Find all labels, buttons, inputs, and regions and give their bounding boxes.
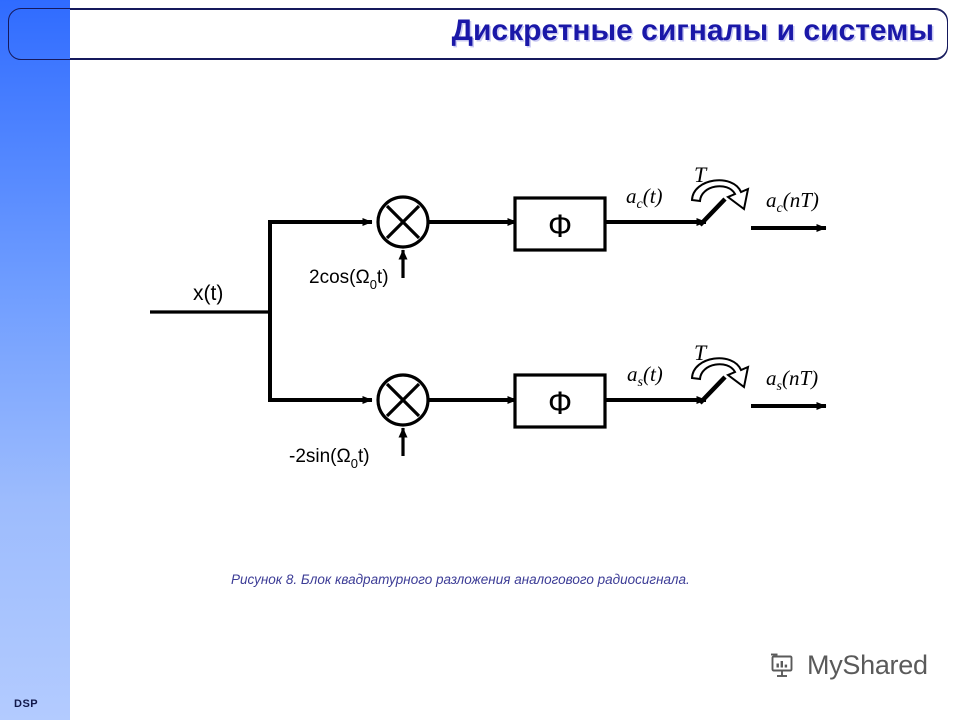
branch-splitter	[268, 222, 372, 400]
oscillator-label-sine: -2sin(Ω0t)	[289, 446, 370, 471]
input-signal-path: x(t)	[150, 282, 271, 312]
input-label: x(t)	[193, 282, 223, 305]
cosine-branch-group: 2cos(Ω0t) Ф ac(t) T ac(nT)	[309, 162, 826, 292]
quadrature-decomposition-diagram: x(t) 2cos(Ω0t)	[0, 0, 960, 720]
sampler-switch-blade-sine	[700, 377, 725, 403]
filter-label-sine: Ф	[548, 385, 572, 421]
sampled-output-label-cosine: ac(nT)	[766, 188, 819, 216]
mixer-sine	[378, 375, 428, 425]
mixer-cosine	[378, 197, 428, 247]
filter-output-label-sine: as(t)	[627, 362, 663, 390]
sine-branch-group: -2sin(Ω0t) Ф as(t) T as(nT)	[289, 340, 826, 471]
sampler-period-label-cosine: T	[694, 162, 708, 187]
slide-canvas: DSP Дискретные сигналы и системы x(t)	[0, 0, 960, 720]
sampled-output-label-sine: as(nT)	[766, 366, 818, 394]
presentation-board-icon	[768, 651, 798, 681]
filter-output-label-cosine: ac(t)	[626, 184, 663, 212]
sampler-period-label-sine: T	[694, 340, 708, 365]
sampler-switch-blade-cosine	[700, 199, 725, 225]
watermark: MyShared	[768, 650, 928, 681]
filter-label-cosine: Ф	[548, 208, 572, 244]
watermark-label: MyShared	[807, 650, 928, 681]
figure-caption: Рисунок 8. Блок квадратурного разложения…	[231, 572, 690, 587]
oscillator-label-cosine: 2cos(Ω0t)	[309, 267, 389, 292]
